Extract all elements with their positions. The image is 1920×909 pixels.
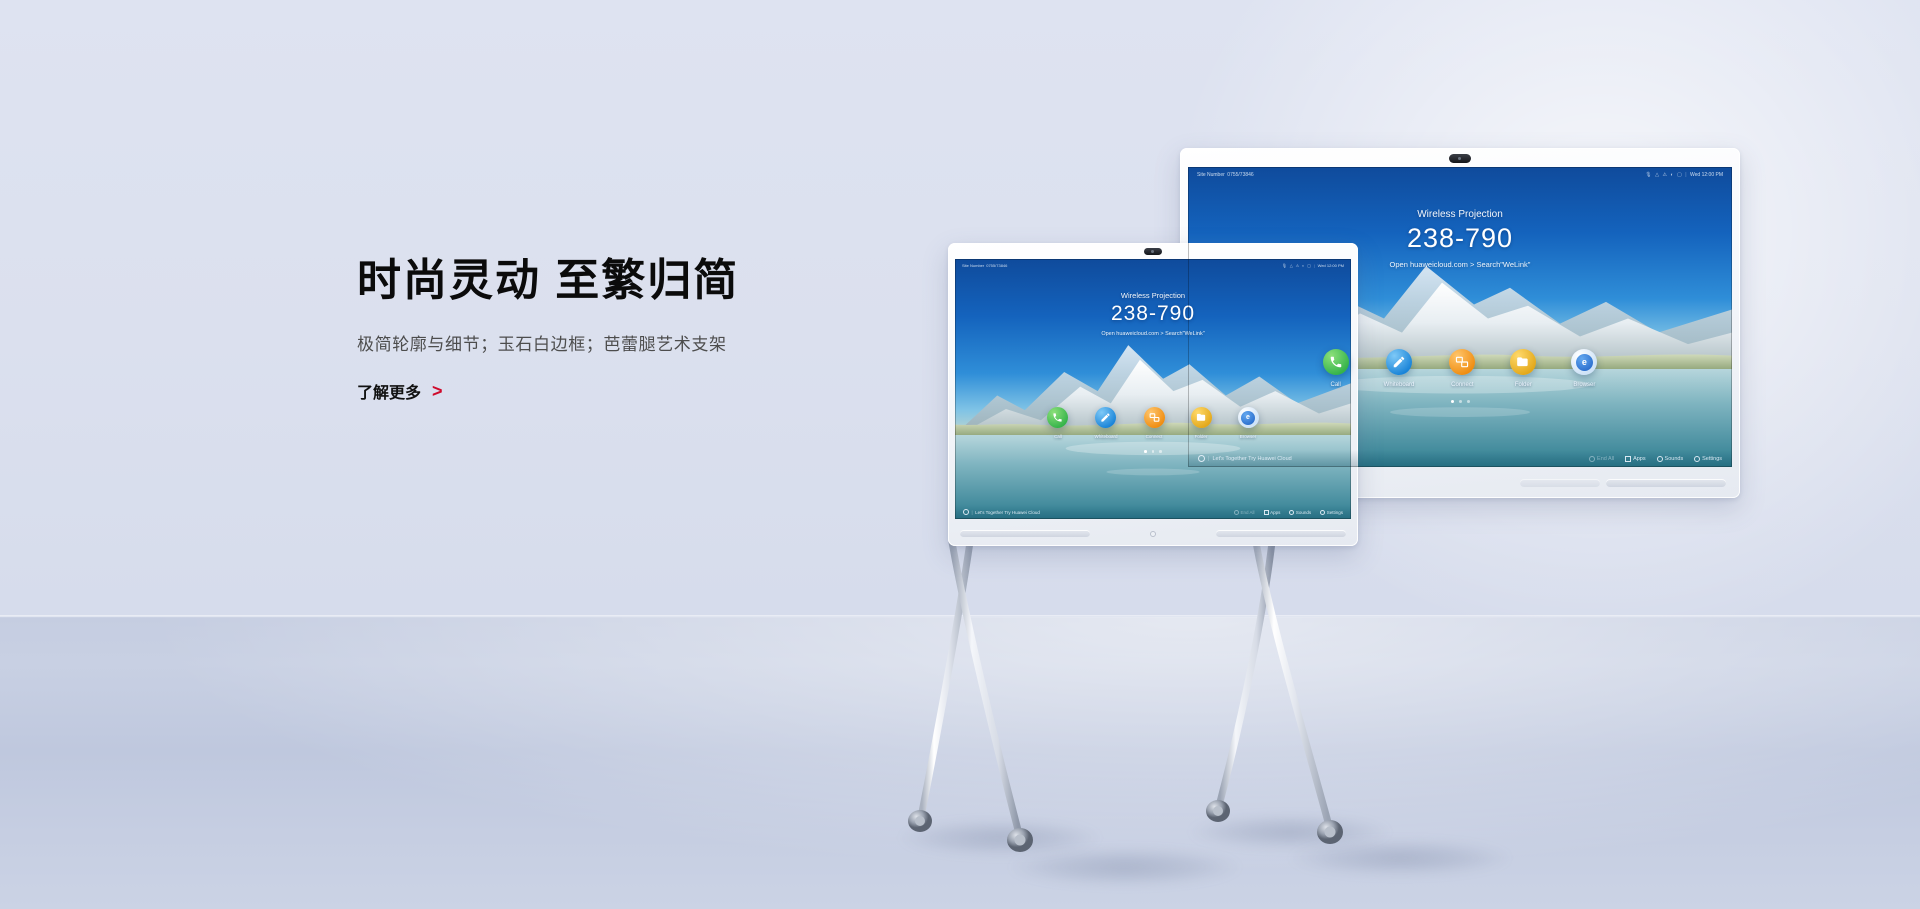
front-taskbar[interactable]: | Let's Together Try Huawei Cloud End Al… [955,505,1351,519]
taskbar-item-end-all[interactable]: End All [1234,510,1255,515]
caster-shadow [1290,840,1510,876]
alert-icon[interactable]: ⚠ [1296,263,1300,268]
dock-item-folder[interactable]: Folder [1191,407,1212,439]
learn-more-link[interactable]: 了解更多 > [357,379,443,403]
dock-label: Browser [1571,382,1597,388]
front-site-number: Site Number 0755/73846 [962,263,1007,268]
wifi-icon[interactable]: ◐ [1670,172,1673,178]
page-dot[interactable] [1459,400,1462,403]
sound-icon [1657,456,1663,462]
folder-icon[interactable] [1191,407,1212,428]
dock-label: Whiteboard [1384,382,1415,388]
rear-taskbar[interactable]: | Let's Together Try Huawei Cloud End Al… [1188,450,1732,467]
phone-icon[interactable] [1323,349,1349,375]
rear-pen-tray [1520,479,1600,487]
site-number-label: Site Number [962,263,984,268]
dock-item-call[interactable]: Call [1323,349,1349,388]
dock-item-call[interactable]: Call [1047,407,1068,439]
dock-item-folder[interactable]: Folder [1510,349,1536,388]
pen-icon[interactable] [1386,349,1412,375]
taskbar-brand-label: Let's Together Try Huawei Cloud [975,510,1040,515]
taskbar-item-label: Sounds [1665,456,1684,462]
rear-statusbar: Site Number 0755/73846 🎙 △ ⚠ ◐ ▢ | Wed 1… [1188,167,1732,183]
microphone-icon[interactable]: 🎙 [1282,263,1287,268]
end-call-icon [1589,456,1595,462]
taskbar-item-settings[interactable]: Settings [1694,456,1722,462]
front-projection-title: Wireless Projection [955,291,1351,300]
network-icon[interactable]: △ [1655,172,1659,178]
rear-app-dock: Call Whiteboard Connect [1188,349,1732,388]
marketing-copy: 时尚灵动 至繁归简 极简轮廓与细节；玉石白边框；芭蕾腿艺术支架 了解更多 > [357,255,877,403]
page-dot[interactable] [1451,400,1454,403]
front-speaker-grille [1216,530,1346,537]
rear-taskbar-brand: | Let's Together Try Huawei Cloud [1198,455,1292,462]
page-dot[interactable] [1467,400,1470,403]
taskbar-item-settings[interactable]: Settings [1320,510,1343,515]
front-app-dock: Call Whiteboard Connect [955,407,1351,439]
taskbar-item-label: Sounds [1296,510,1311,515]
front-projection-block: Wireless Projection 238-790 Open huaweic… [955,291,1351,337]
front-display-unit: Site Number 0755/73846 🎙 △ ⚠ ◐ ▢ | Wed 1… [948,243,1358,546]
end-call-icon [1234,510,1239,515]
front-status-icons[interactable]: 🎙 △ ⚠ ◐ ▢ | Wed 12:00 PM [1282,263,1344,268]
front-projection-hint: Open huaweicloud.com > Search"WeLink" [955,331,1351,337]
caster-shadow [1010,848,1240,886]
pen-icon[interactable] [1095,407,1116,428]
microphone-icon[interactable]: 🎙 [1645,172,1651,178]
taskbar-item-apps[interactable]: Apps [1625,456,1645,462]
taskbar-item-label: Settings [1327,510,1343,515]
dock-item-whiteboard[interactable]: Whiteboard [1384,349,1415,388]
page-title: 时尚灵动 至繁归简 [357,255,877,308]
dock-item-connect[interactable]: Connect [1144,407,1165,439]
dock-label: Call [1047,434,1068,439]
taskbar-brand-label: Let's Together Try Huawei Cloud [1212,456,1291,462]
sound-icon [1289,510,1294,515]
wifi-icon[interactable]: ◐ [1302,263,1304,268]
rear-clock: Wed 12:00 PM [1690,172,1723,178]
hero-scene: 时尚灵动 至繁归简 极简轮廓与细节；玉石白边框；芭蕾腿艺术支架 了解更多 > [0,0,1920,909]
dock-label: Whiteboard [1094,434,1117,439]
rear-speaker-grille [1606,479,1726,487]
horizon-line [0,615,1920,618]
page-dot[interactable] [1152,450,1155,453]
huawei-logo-icon [1198,455,1205,462]
rear-projection-title: Wireless Projection [1188,209,1732,220]
screen-share-icon[interactable]: ▢ [1307,263,1311,268]
front-pen-tray [960,530,1090,537]
rear-page-indicator[interactable] [1188,400,1732,403]
connect-icon[interactable] [1144,407,1165,428]
taskbar-item-apps[interactable]: Apps [1264,510,1281,515]
dock-label: Browser [1238,434,1259,439]
site-number-label: Site Number [1197,172,1225,178]
taskbar-item-sounds[interactable]: Sounds [1289,510,1311,515]
rear-status-icons[interactable]: 🎙 △ ⚠ ◐ ▢ | Wed 12:00 PM [1645,172,1723,178]
rear-projection-code: 238-790 [1188,223,1732,254]
dock-item-browser[interactable]: e Browser [1238,407,1259,439]
front-statusbar: Site Number 0755/73846 🎙 △ ⚠ ◐ ▢ | Wed 1… [955,259,1351,272]
folder-icon[interactable] [1510,349,1536,375]
chevron-right-icon: > [432,382,443,400]
taskbar-item-label: Settings [1702,456,1722,462]
front-taskbar-brand: | Let's Together Try Huawei Cloud [963,509,1040,515]
taskbar-item-label: End All [1597,456,1614,462]
taskbar-item-label: Apps [1270,510,1280,515]
rear-site-number: Site Number 0755/73846 [1197,172,1254,178]
connect-icon[interactable] [1449,349,1475,375]
gear-icon [1694,456,1700,462]
dock-item-whiteboard[interactable]: Whiteboard [1094,407,1117,439]
background-floor [0,617,1920,909]
browser-icon[interactable]: e [1238,407,1259,428]
front-projection-code: 238-790 [955,302,1351,326]
learn-more-label: 了解更多 [357,379,421,403]
dock-label: Call [1323,382,1349,388]
site-number-value: 0755/73846 [986,263,1007,268]
browser-icon[interactable]: e [1571,349,1597,375]
page-dot[interactable] [1144,450,1147,453]
apps-icon [1625,456,1631,462]
front-page-indicator[interactable] [955,450,1351,453]
front-taskbar-items[interactable]: End All Apps Sounds Settings [1234,510,1343,515]
gear-icon [1320,510,1325,515]
dock-label: Connect [1144,434,1165,439]
front-clock: Wed 12:00 PM [1318,263,1344,268]
dock-label: Folder [1191,434,1212,439]
taskbar-item-end-all[interactable]: End All [1589,456,1614,462]
camera-icon [1144,248,1162,255]
huawei-logo-icon [963,509,969,515]
page-subtitle: 极简轮廓与细节；玉石白边框；芭蕾腿艺术支架 [357,330,877,355]
taskbar-item-label: Apps [1633,456,1646,462]
alert-icon[interactable]: ⚠ [1662,172,1666,178]
dock-label: Connect [1449,382,1475,388]
camera-icon [1449,154,1471,163]
dock-item-browser[interactable]: e Browser [1571,349,1597,388]
rear-taskbar-items[interactable]: End All Apps Sounds Settings [1589,456,1722,462]
screen-share-icon[interactable]: ▢ [1677,172,1682,178]
network-icon[interactable]: △ [1290,263,1293,268]
front-power-button[interactable] [1150,531,1156,537]
dock-label: Folder [1510,382,1536,388]
front-screen[interactable]: Site Number 0755/73846 🎙 △ ⚠ ◐ ▢ | Wed 1… [955,259,1351,519]
dock-item-connect[interactable]: Connect [1449,349,1475,388]
phone-icon[interactable] [1047,407,1068,428]
apps-icon [1264,510,1269,515]
site-number-value: 0755/73846 [1227,172,1253,178]
taskbar-item-label: End All [1241,510,1255,515]
taskbar-item-sounds[interactable]: Sounds [1657,456,1684,462]
page-dot[interactable] [1159,450,1162,453]
